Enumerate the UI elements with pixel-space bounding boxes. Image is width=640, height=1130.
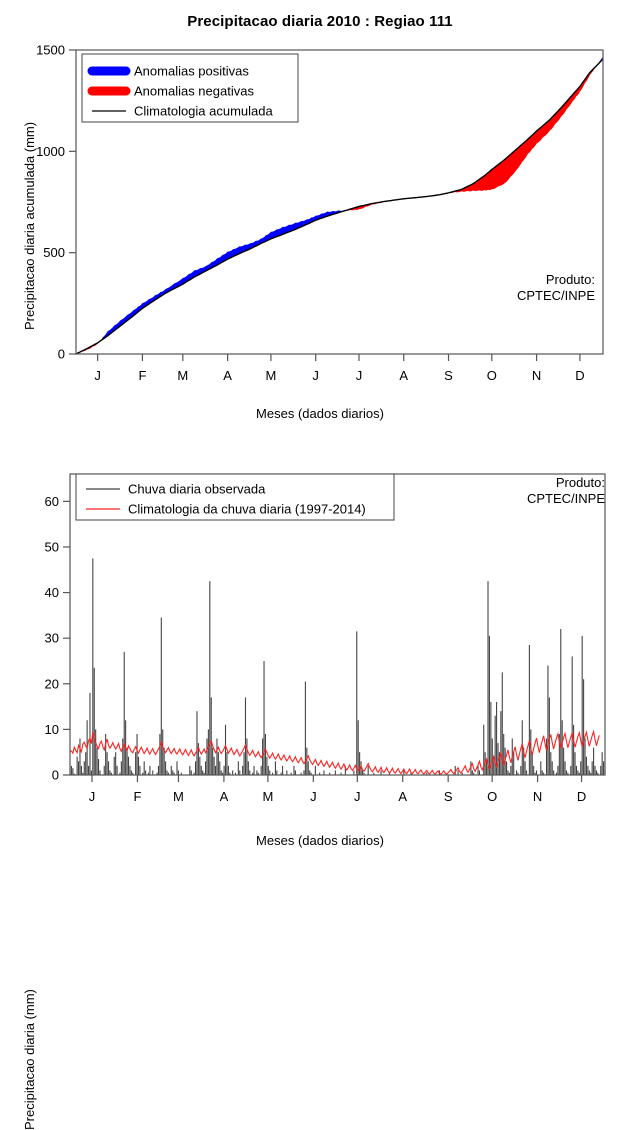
svg-text:N: N xyxy=(532,368,541,383)
svg-text:O: O xyxy=(487,368,497,383)
daily-precipitation-chart: 0102030405060JFMAMJJASONDChuva diaria ob… xyxy=(0,430,640,850)
svg-text:M: M xyxy=(173,789,184,804)
svg-text:1500: 1500 xyxy=(36,43,65,58)
svg-text:M: M xyxy=(177,368,188,383)
svg-text:60: 60 xyxy=(45,494,59,509)
svg-text:M: M xyxy=(265,368,276,383)
svg-text:Anomalias negativas: Anomalias negativas xyxy=(134,84,254,99)
svg-text:N: N xyxy=(533,789,542,804)
svg-text:O: O xyxy=(487,789,497,804)
svg-text:0: 0 xyxy=(52,768,59,783)
svg-text:Climatologia da chuva diaria (: Climatologia da chuva diaria (1997-2014) xyxy=(128,502,366,517)
bottom-chart-y-axis-label: Precipitacao diaria (mm) xyxy=(22,989,37,1130)
accumulated-precipitation-panel: Precipitacao diaria 2010 : Regiao 111 Pr… xyxy=(0,0,640,430)
svg-text:50: 50 xyxy=(45,539,59,554)
svg-text:Anomalias positivas: Anomalias positivas xyxy=(134,64,249,79)
svg-text:M: M xyxy=(262,789,273,804)
svg-text:J: J xyxy=(89,789,96,804)
svg-text:30: 30 xyxy=(45,631,59,646)
svg-text:D: D xyxy=(577,789,586,804)
svg-text:J: J xyxy=(312,368,319,383)
svg-text:D: D xyxy=(575,368,584,383)
svg-text:0: 0 xyxy=(58,347,65,362)
svg-text:Chuva diaria observada: Chuva diaria observada xyxy=(128,482,266,497)
svg-text:A: A xyxy=(220,789,229,804)
svg-text:J: J xyxy=(94,368,101,383)
chart-page: Precipitacao diaria 2010 : Regiao 111 Pr… xyxy=(0,0,640,850)
svg-text:1000: 1000 xyxy=(36,144,65,159)
svg-text:A: A xyxy=(223,368,232,383)
svg-text:500: 500 xyxy=(43,245,65,260)
svg-text:40: 40 xyxy=(45,585,59,600)
svg-text:J: J xyxy=(354,789,361,804)
svg-text:J: J xyxy=(356,368,363,383)
svg-text:F: F xyxy=(138,368,146,383)
svg-text:S: S xyxy=(444,368,453,383)
svg-text:A: A xyxy=(399,368,408,383)
svg-text:F: F xyxy=(133,789,141,804)
accumulated-precipitation-chart: 050010001500JFMAMJJASONDAnomalias positi… xyxy=(0,0,640,430)
svg-text:A: A xyxy=(398,789,407,804)
svg-text:20: 20 xyxy=(45,676,59,691)
svg-text:S: S xyxy=(444,789,453,804)
svg-text:10: 10 xyxy=(45,722,59,737)
svg-text:Climatologia acumulada: Climatologia acumulada xyxy=(134,104,274,119)
daily-precipitation-panel: Precipitacao diaria (mm) Meses (dados di… xyxy=(0,430,640,850)
svg-text:J: J xyxy=(310,789,317,804)
